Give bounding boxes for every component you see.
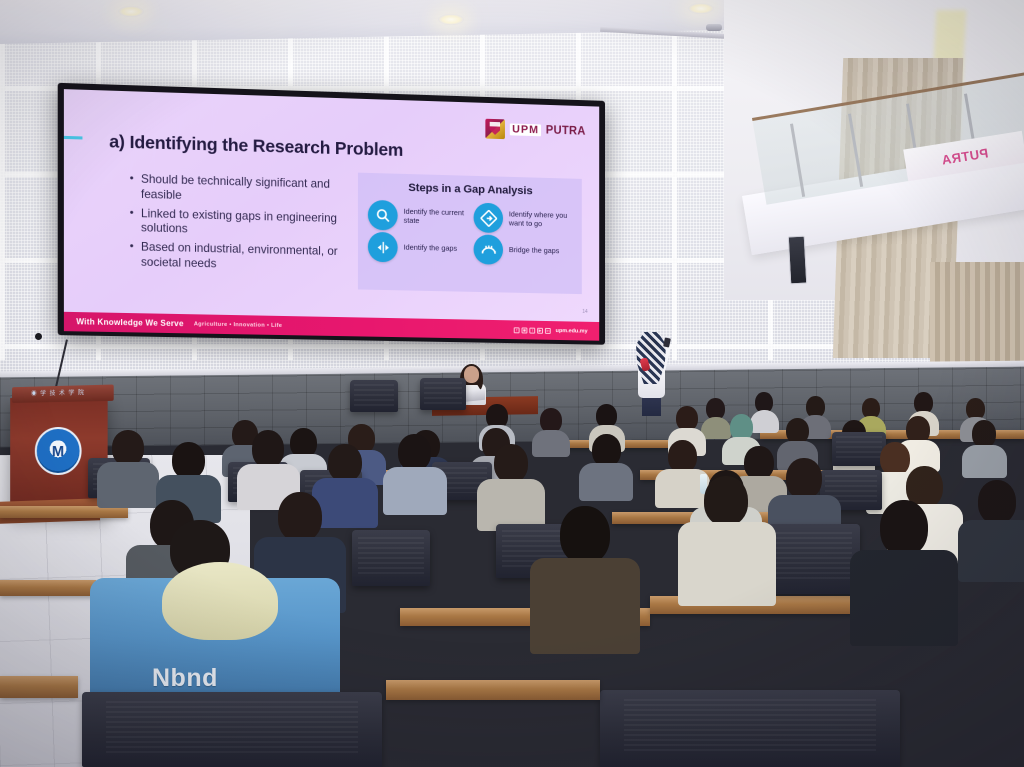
linkedin-icon: in <box>545 327 551 333</box>
slide-title: a) Identifying the Research Problem <box>109 131 403 161</box>
list-item: Based on industrial, environmental, or s… <box>130 240 342 275</box>
target-diamond-icon <box>474 203 503 233</box>
person-head <box>880 500 928 556</box>
person-head <box>278 492 322 542</box>
presenter-legs <box>642 396 661 416</box>
person-head <box>328 444 362 482</box>
person-torso <box>958 520 1024 582</box>
lecture-hall-photo: PUTRA UPM PUTRA a) Identifying the Resea… <box>0 0 1024 767</box>
desk-row <box>0 676 78 698</box>
putra-logo-text: PUTRA <box>546 125 586 138</box>
person-torso <box>850 550 958 646</box>
seat-back <box>600 690 900 767</box>
person-head <box>112 430 144 466</box>
person-head <box>252 430 284 468</box>
upm-crest-icon <box>486 119 506 139</box>
gap-item-label: Identify where you want to go <box>509 209 572 228</box>
person-torso <box>383 467 447 515</box>
seat-back <box>350 380 398 412</box>
person-head <box>172 442 205 479</box>
ceiling-light <box>118 6 144 17</box>
desk-row <box>386 680 600 700</box>
person-head <box>398 434 431 471</box>
seat-back <box>420 378 466 410</box>
slide-bullet-list: Should be technically significant and fe… <box>130 172 342 279</box>
list-item: Should be technically significant and fe… <box>130 172 342 208</box>
presentation-slide: UPM PUTRA a) Identifying the Research Pr… <box>64 89 599 341</box>
footer-subtagline: Agriculture • Innovation • Life <box>194 321 282 329</box>
projection-screen: UPM PUTRA a) Identifying the Research Pr… <box>58 83 605 345</box>
desk-row <box>0 580 96 596</box>
podium-emblem: M <box>35 427 82 475</box>
seat-back <box>82 692 382 767</box>
person-head <box>560 506 610 564</box>
podium-nameplate: ◉ 学 技 术 学 院 <box>31 387 85 397</box>
instagram-icon: ◉ <box>522 327 528 333</box>
person-head <box>704 476 748 526</box>
person-torso <box>701 417 731 439</box>
putra-banner-text: PUTRA <box>940 145 989 167</box>
gap-item: Identify the current state <box>368 200 468 232</box>
slide-page-number: 14 <box>582 309 587 315</box>
person-head <box>744 446 774 480</box>
gap-item-label: Bridge the gaps <box>509 246 559 256</box>
presenter-phone <box>663 337 671 347</box>
twitter-icon: t <box>529 327 535 333</box>
person-head <box>978 480 1016 524</box>
person-torso <box>678 522 776 606</box>
seat-back <box>832 432 886 466</box>
person-head <box>972 420 996 448</box>
moderator-head <box>464 366 479 383</box>
youtube-icon: ▶ <box>537 327 543 333</box>
gap-item: Bridge the gaps <box>474 234 573 266</box>
slide-accent-bar <box>64 136 83 140</box>
wall-speaker <box>788 236 807 285</box>
gap-item: Identify the gaps <box>368 232 468 264</box>
slide-footer-bar: With Knowledge We Serve Agriculture • In… <box>64 312 599 341</box>
gap-analysis-panel: Steps in a Gap Analysis Identify the cur… <box>358 173 582 295</box>
upm-logo-text: UPM <box>510 123 541 136</box>
standing-presenter <box>628 330 676 414</box>
person-torso <box>750 410 779 433</box>
gap-item-label: Identify the gaps <box>404 243 458 253</box>
person-torso <box>530 558 640 654</box>
list-item: Linked to existing gaps in engineering s… <box>130 206 342 241</box>
footer-social-group: f ◉ t ▶ in upm.edu.my <box>514 327 588 334</box>
bridge-icon <box>474 234 503 264</box>
person-head <box>494 444 528 483</box>
ceiling-light <box>438 14 464 25</box>
gap-item-label: Identify the current state <box>404 207 468 227</box>
seat-back <box>352 530 430 586</box>
gap-item: Identify where you want to go <box>474 203 573 235</box>
gap-panel-grid: Identify the current state Identify wher… <box>358 193 582 267</box>
slide-logos: UPM PUTRA <box>486 119 586 142</box>
person-torso <box>962 445 1007 478</box>
person-torso <box>579 463 633 501</box>
person-head <box>786 458 822 499</box>
footer-url: upm.edu.my <box>556 328 588 335</box>
hoodie-hood <box>162 562 278 640</box>
ceiling-fixture <box>706 24 722 31</box>
person-torso <box>532 430 570 457</box>
microphone-head-icon <box>35 333 42 340</box>
person-head <box>880 442 910 476</box>
seat-back <box>764 524 860 594</box>
person-torso <box>97 462 159 508</box>
facebook-icon: f <box>514 327 520 333</box>
magnifier-icon <box>368 200 398 231</box>
ceiling-light <box>688 3 714 14</box>
gap-arrows-icon <box>368 232 398 263</box>
footer-tagline: With Knowledge We Serve <box>76 317 183 328</box>
